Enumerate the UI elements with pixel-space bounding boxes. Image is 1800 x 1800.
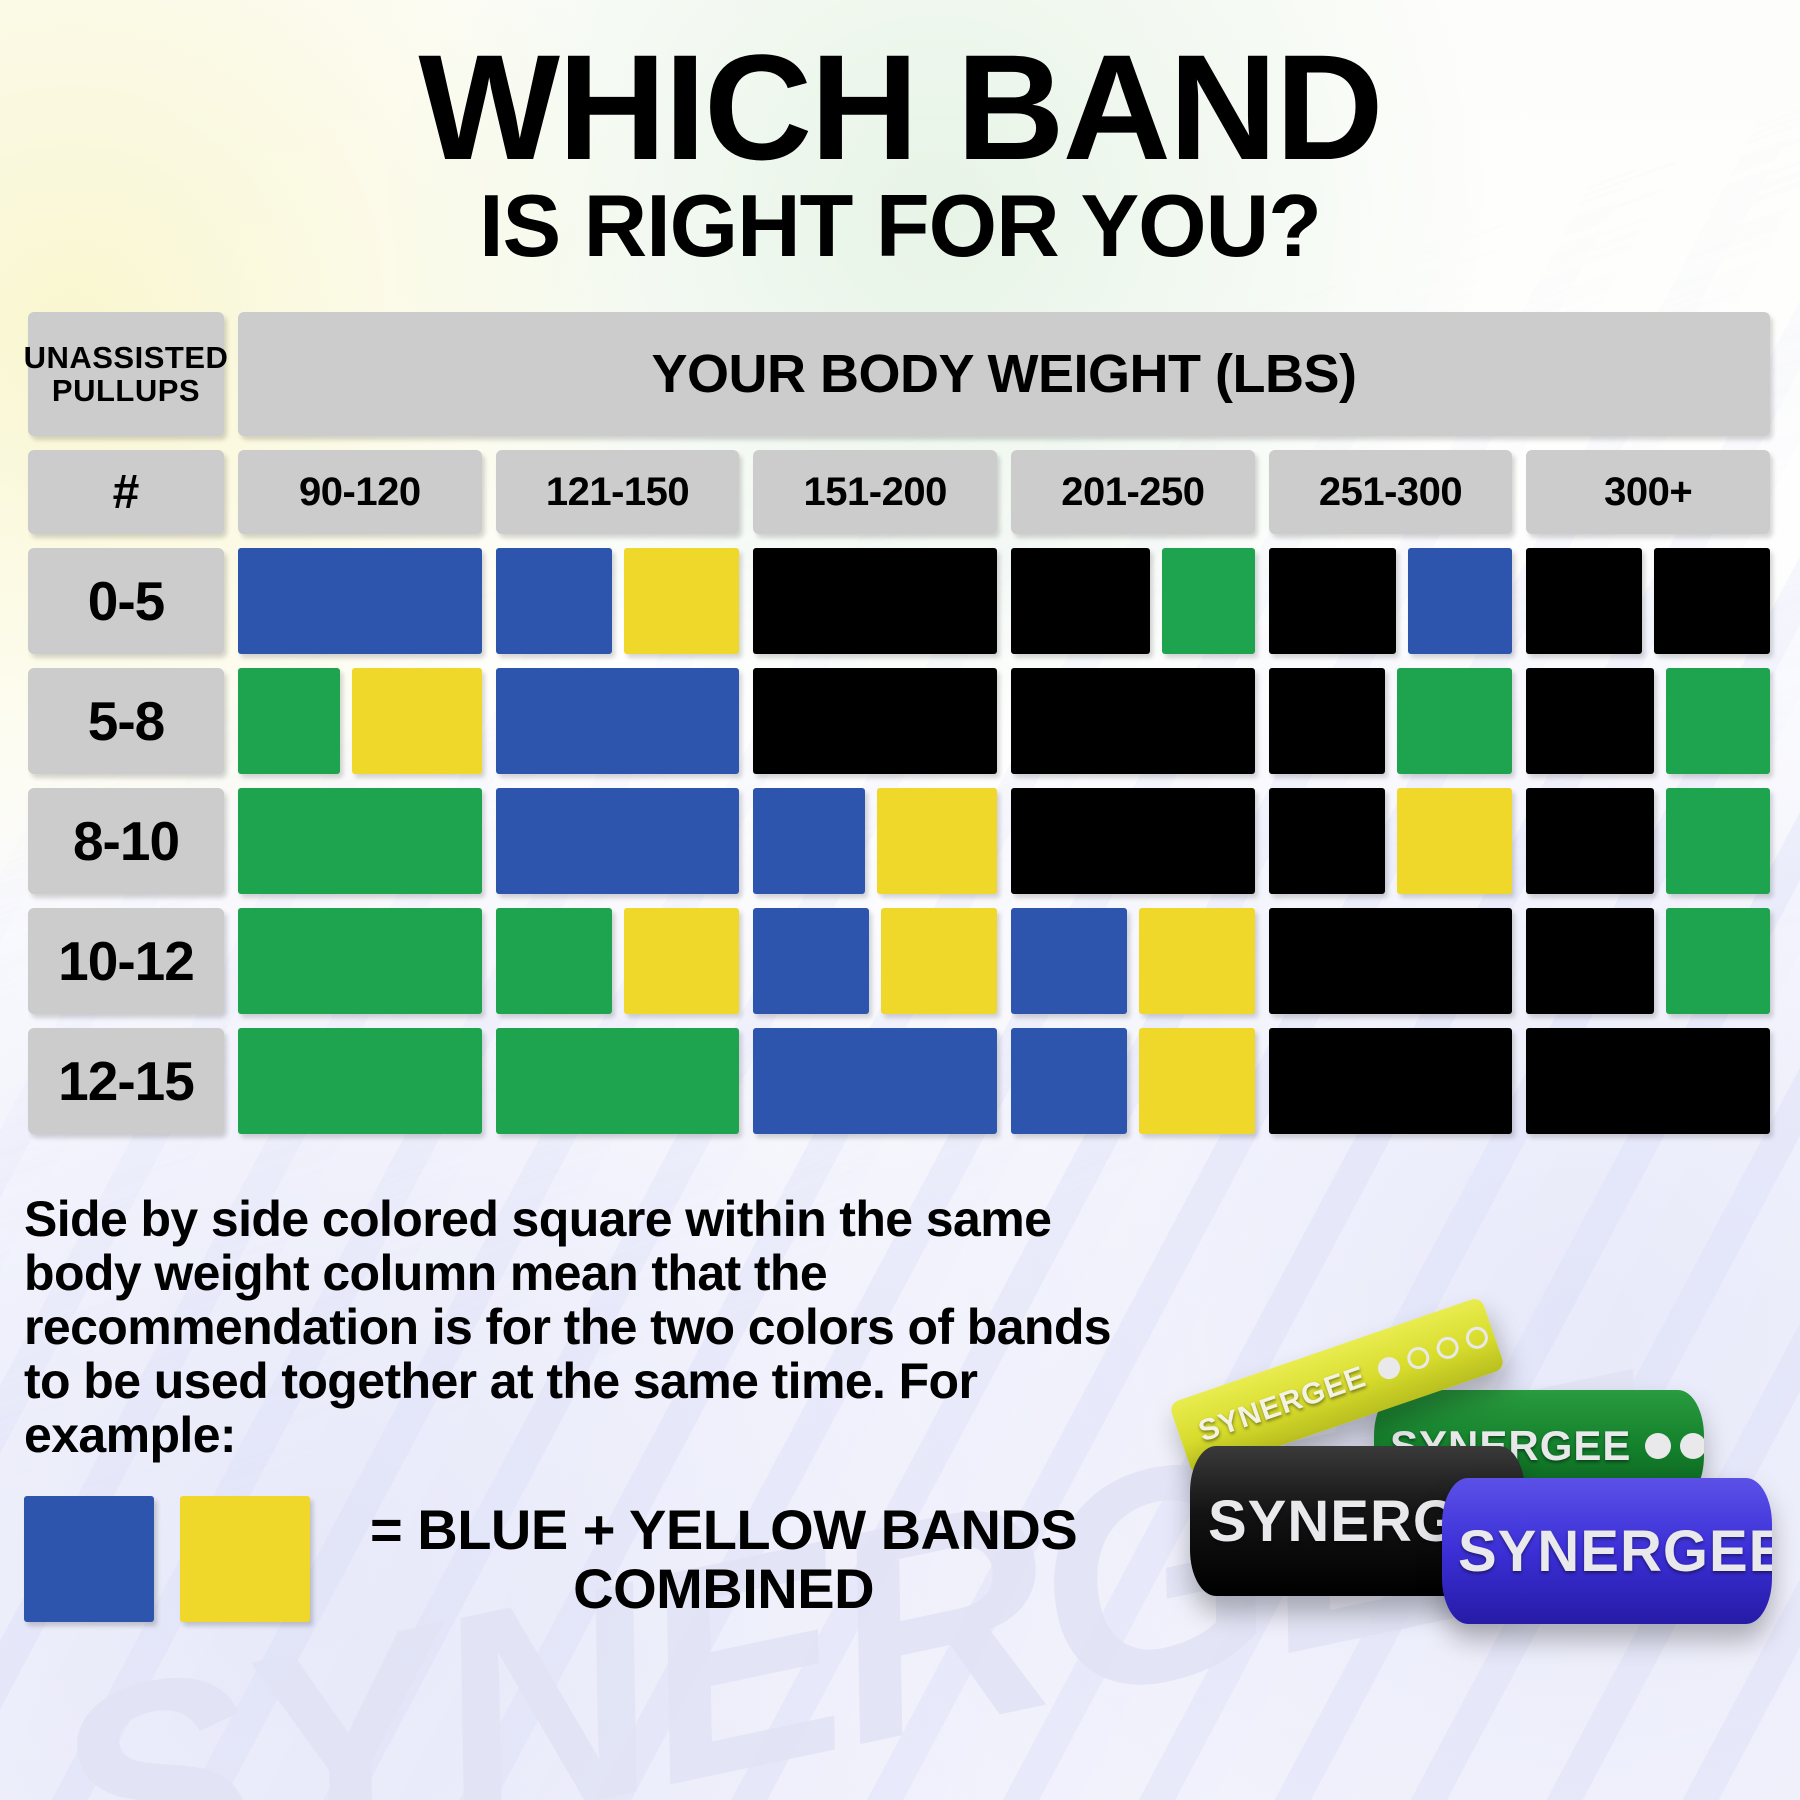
band-swatch-green [1666,668,1770,774]
table-cell-8-10-251-300 [1269,788,1513,894]
band-dot-icon [1463,1324,1491,1352]
table-cell-5-8-90-120 [238,668,482,774]
band-swatch-black [1269,908,1513,1014]
band-swatch-black [1526,668,1653,774]
table-cell-12-15-201-250 [1011,1028,1255,1134]
band-swatch-green [1666,908,1770,1014]
bodyweight-header: YOUR BODY WEIGHT (LBS) [238,312,1770,436]
table-cell-10-12-151-200 [753,908,997,1014]
column-header-121-150: 121-150 [496,450,740,534]
legend-swatch-blue [24,1496,154,1622]
band-recommendation-table: UNASSISTED PULLUPS YOUR BODY WEIGHT (LBS… [0,312,1800,1134]
row-label-5-8: 5-8 [28,668,224,774]
band-swatch-blue [1011,1028,1127,1134]
legend-caption-line1: = BLUE + YELLOW BANDS [370,1500,1077,1559]
band-dot-icon [1680,1433,1704,1459]
table-cell-0-5-90-120 [238,548,482,654]
corner-header-line1: UNASSISTED [24,341,229,374]
table-row: 10-12 [28,908,1770,1014]
band-swatch-black [1269,788,1385,894]
table-cell-8-10-151-200 [753,788,997,894]
legend-example: = BLUE + YELLOW BANDS COMBINED [24,1496,1144,1622]
band-dot-icon [1404,1344,1432,1372]
legend-caption-line2: COMBINED [370,1559,1077,1618]
row-header-symbol: # [28,450,224,534]
band-swatch-green [238,668,340,774]
band-swatch-black [1526,908,1653,1014]
table-cell-12-15-90-120 [238,1028,482,1134]
band-swatch-black [1011,668,1255,774]
product-photo: SYNERGEE SYNERGEE SYNERGEE SYNERGEE [1162,1270,1782,1670]
row-label-8-10: 8-10 [28,788,224,894]
table-cell-10-12-201-250 [1011,908,1255,1014]
table-cell-10-12-121-150 [496,908,740,1014]
table-cell-12-15-121-150 [496,1028,740,1134]
table-header-row: UNASSISTED PULLUPS YOUR BODY WEIGHT (LBS… [28,312,1770,436]
table-cell-8-10-300+ [1526,788,1770,894]
band-swatch-yellow [352,668,482,774]
band-swatch-green [1666,788,1770,894]
explanation-block: Side by side colored square within the s… [24,1192,1144,1622]
table-body: 0-55-88-1010-1212-15 [28,548,1770,1134]
table-cell-0-5-251-300 [1269,548,1513,654]
table-cell-5-8-201-250 [1011,668,1255,774]
corner-header: UNASSISTED PULLUPS [28,312,224,436]
title-block: WHICH BAND IS RIGHT FOR YOU? [0,0,1800,272]
band-swatch-black [1654,548,1770,654]
table-row: 12-15 [28,1028,1770,1134]
band-swatch-yellow [881,908,997,1014]
band-dots-yellow [1375,1324,1491,1382]
band-dots-green [1645,1433,1704,1459]
resistance-band-blue: SYNERGEE [1442,1478,1772,1624]
row-label-0-5: 0-5 [28,548,224,654]
page-subtitle: IS RIGHT FOR YOU? [0,180,1800,272]
legend-swatch-yellow [180,1496,310,1622]
band-swatch-green [238,788,482,894]
table-cell-10-12-300+ [1526,908,1770,1014]
band-swatch-green [1397,668,1513,774]
band-swatch-black [1011,788,1255,894]
band-swatch-blue [753,1028,997,1134]
band-dot-icon [1645,1433,1671,1459]
infographic-page: WHICH BAND IS RIGHT FOR YOU? UNASSISTED … [0,0,1800,1800]
table-cell-8-10-201-250 [1011,788,1255,894]
page-title: WHICH BAND [0,38,1800,176]
table-row: 0-5 [28,548,1770,654]
table-row: 8-10 [28,788,1770,894]
band-swatch-black [1269,668,1385,774]
table-cell-12-15-251-300 [1269,1028,1513,1134]
legend-caption: = BLUE + YELLOW BANDS COMBINED [370,1500,1077,1619]
column-header-90-120: 90-120 [238,450,482,534]
table-cell-0-5-300+ [1526,548,1770,654]
band-brand-yellow: SYNERGEE [1194,1360,1370,1449]
band-brand-blue: SYNERGEE [1458,1518,1772,1585]
band-swatch-yellow [877,788,997,894]
band-swatch-black [1526,548,1642,654]
row-label-10-12: 10-12 [28,908,224,1014]
table-cell-5-8-251-300 [1269,668,1513,774]
column-header-201-250: 201-250 [1011,450,1255,534]
corner-header-line2: PULLUPS [24,374,229,407]
column-header-300plus: 300+ [1526,450,1770,534]
table-cell-10-12-251-300 [1269,908,1513,1014]
column-header-151-200: 151-200 [753,450,997,534]
band-swatch-yellow [1397,788,1513,894]
table-cell-8-10-121-150 [496,788,740,894]
table-cell-10-12-90-120 [238,908,482,1014]
table-cell-0-5-121-150 [496,548,740,654]
table-row: 5-8 [28,668,1770,774]
explanation-text: Side by side colored square within the s… [24,1192,1144,1462]
table-cell-8-10-90-120 [238,788,482,894]
band-swatch-green [238,908,482,1014]
band-swatch-black [753,548,997,654]
band-swatch-blue [496,548,612,654]
band-swatch-black [1526,788,1653,894]
band-swatch-green [1162,548,1255,654]
band-swatch-green [496,908,612,1014]
band-swatch-blue [1408,548,1512,654]
band-swatch-blue [753,788,864,894]
band-swatch-blue [496,788,740,894]
band-swatch-blue [1011,908,1127,1014]
band-dot-icon [1433,1334,1461,1362]
table-cell-5-8-121-150 [496,668,740,774]
band-swatch-black [1526,1028,1770,1134]
table-cell-0-5-151-200 [753,548,997,654]
table-cell-12-15-300+ [1526,1028,1770,1134]
table-cell-12-15-151-200 [753,1028,997,1134]
table-cell-5-8-300+ [1526,668,1770,774]
band-swatch-blue [753,908,869,1014]
table-cell-5-8-151-200 [753,668,997,774]
band-swatch-yellow [624,548,740,654]
band-swatch-yellow [1139,1028,1255,1134]
band-swatch-green [496,1028,740,1134]
band-swatch-blue [238,548,482,654]
band-swatch-yellow [1139,908,1255,1014]
band-swatch-green [238,1028,482,1134]
band-swatch-black [1269,548,1396,654]
band-dot-icon [1375,1354,1403,1382]
band-swatch-black [753,668,997,774]
band-swatch-black [1269,1028,1513,1134]
column-header-251-300: 251-300 [1269,450,1513,534]
table-cell-0-5-201-250 [1011,548,1255,654]
band-swatch-blue [496,668,740,774]
column-header-row: # 90-120 121-150 151-200 201-250 251-300… [28,450,1770,534]
row-label-12-15: 12-15 [28,1028,224,1134]
band-swatch-yellow [624,908,740,1014]
band-swatch-black [1011,548,1150,654]
